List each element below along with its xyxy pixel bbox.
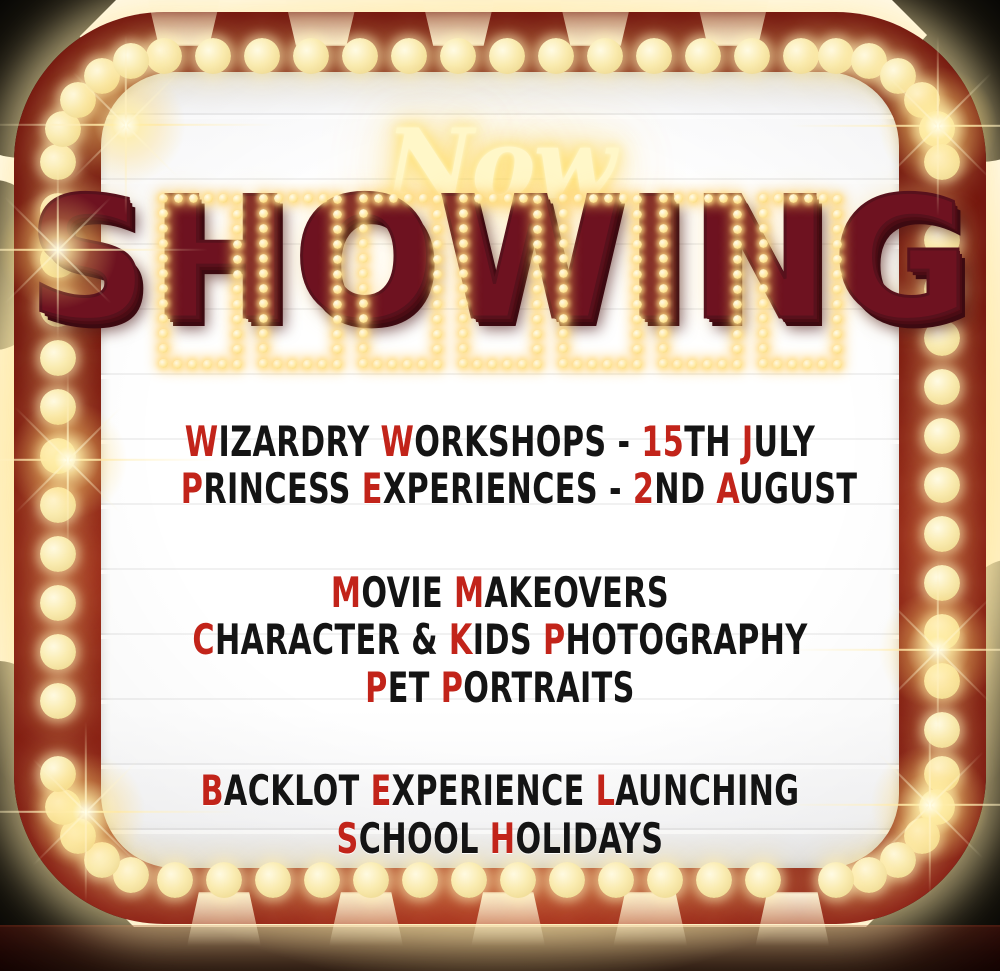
bulb-light-spill-bottom xyxy=(329,892,403,946)
marquee-bulb xyxy=(500,862,536,898)
marquee-bulb xyxy=(40,536,76,572)
marquee-bulb xyxy=(924,144,960,180)
marquee-bulb xyxy=(293,38,329,74)
marquee-bulb xyxy=(40,193,76,229)
marquee-bulb xyxy=(538,38,574,74)
marquee-bulb xyxy=(391,38,427,74)
marquee-bulb xyxy=(40,756,76,792)
marquee-bulb xyxy=(924,756,960,792)
marquee-bulb xyxy=(40,340,76,376)
marquee-bulb xyxy=(440,38,476,74)
panel-vignette xyxy=(101,72,899,868)
marquee-bulb xyxy=(818,38,854,74)
marquee-bulb xyxy=(919,111,955,147)
bulb-light-spill-bottom xyxy=(755,892,829,946)
marquee-bulb xyxy=(146,38,182,74)
marquee-bulb xyxy=(40,683,76,719)
marquee-bulb xyxy=(489,38,525,74)
marquee-bulb xyxy=(40,291,76,327)
marquee-bulb xyxy=(696,862,732,898)
marquee-bulb xyxy=(40,634,76,670)
marquee-bulb xyxy=(851,857,887,893)
marquee-bulb xyxy=(206,862,242,898)
marquee-bulb xyxy=(685,38,721,74)
marquee-bulb xyxy=(451,862,487,898)
marquee-bulb xyxy=(304,862,340,898)
bulb-light-spill-bottom xyxy=(187,892,261,946)
marquee-bulb xyxy=(195,38,231,74)
marquee-bulb xyxy=(549,862,585,898)
marquee-bulb xyxy=(598,862,634,898)
marquee-bulb xyxy=(745,862,781,898)
letterboard-rails xyxy=(101,72,899,868)
marquee-bulb xyxy=(244,38,280,74)
marquee-bulb xyxy=(636,38,672,74)
marquee-bulb xyxy=(40,144,76,180)
marquee-bulb xyxy=(587,38,623,74)
bulb-light-spill-top xyxy=(284,0,358,46)
marquee-poster: Now SHOWING WIZARDRY WORKSHOPS - 15TH JU… xyxy=(0,0,1000,971)
marquee-bulb xyxy=(255,862,291,898)
marquee-bulb xyxy=(40,438,76,474)
marquee-bulb xyxy=(647,862,683,898)
bulb-light-spill-bottom xyxy=(471,892,545,946)
marquee-bulb xyxy=(40,242,76,278)
marquee-bulb xyxy=(40,585,76,621)
marquee-bulb xyxy=(40,389,76,425)
marquee-bulb xyxy=(402,862,438,898)
marquee-bulb xyxy=(40,487,76,523)
marquee-bulb xyxy=(818,862,854,898)
marquee-bulb xyxy=(783,38,819,74)
marquee-bulb xyxy=(45,789,81,825)
marquee-bulb xyxy=(734,38,770,74)
bulb-light-spill-bottom xyxy=(613,892,687,946)
marquee-bulb xyxy=(353,862,389,898)
letterboard-panel xyxy=(101,72,899,868)
marquee-bulb xyxy=(342,38,378,74)
marquee-bulb xyxy=(157,862,193,898)
